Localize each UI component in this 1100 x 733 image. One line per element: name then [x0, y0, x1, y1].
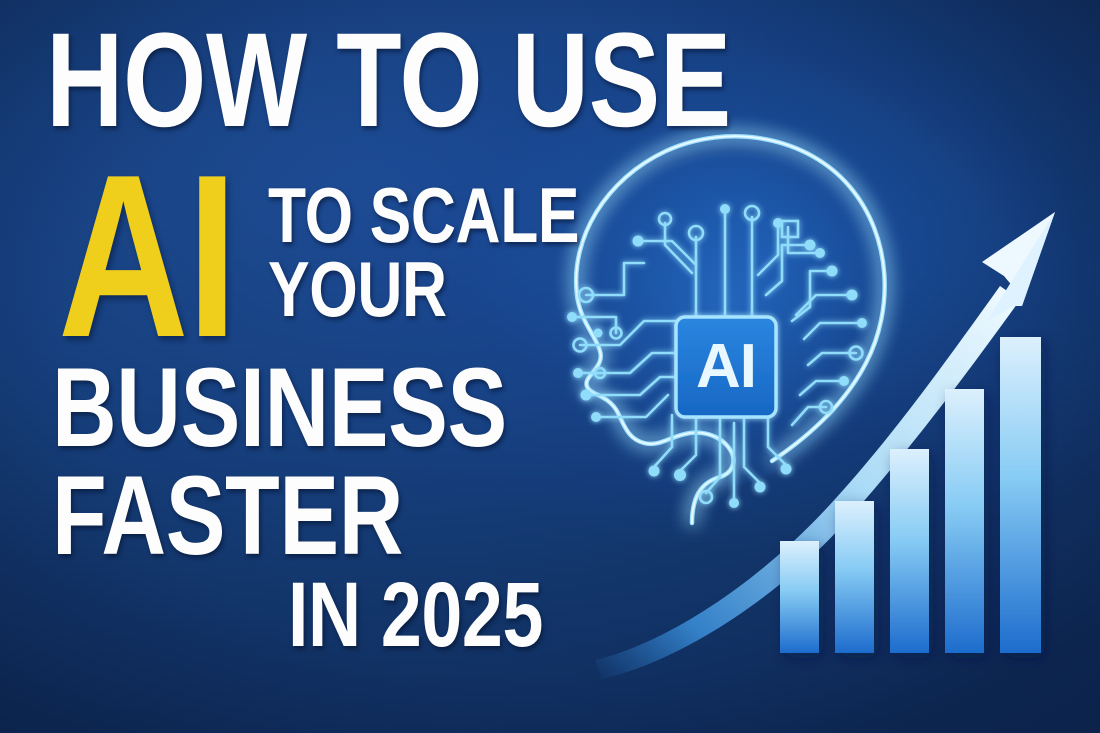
- headline-block: HOW TO USE AI TO SCALE YOUR BUSINESS FAS…: [0, 0, 660, 733]
- bar-5: [1000, 337, 1041, 653]
- bar-3: [890, 449, 929, 653]
- headline-line-business: BUSINESS: [52, 362, 507, 454]
- headline-accent-ai: AI: [58, 162, 236, 352]
- growth-chart: [600, 190, 1100, 670]
- headline-line-to-scale: TO SCALE: [268, 184, 579, 248]
- headline-line-your: YOUR: [268, 258, 447, 322]
- headline-line-faster: FASTER: [52, 470, 403, 562]
- bar-4: [945, 389, 984, 653]
- bar-1: [780, 541, 819, 653]
- chart-bars: [780, 337, 1041, 653]
- headline-line-in-2025: IN 2025: [288, 578, 543, 653]
- growth-arrow-icon: [595, 212, 1055, 679]
- bar-2: [835, 501, 874, 653]
- banner-canvas: AI: [0, 0, 1100, 733]
- headline-line-how-to-use: HOW TO USE: [46, 26, 731, 136]
